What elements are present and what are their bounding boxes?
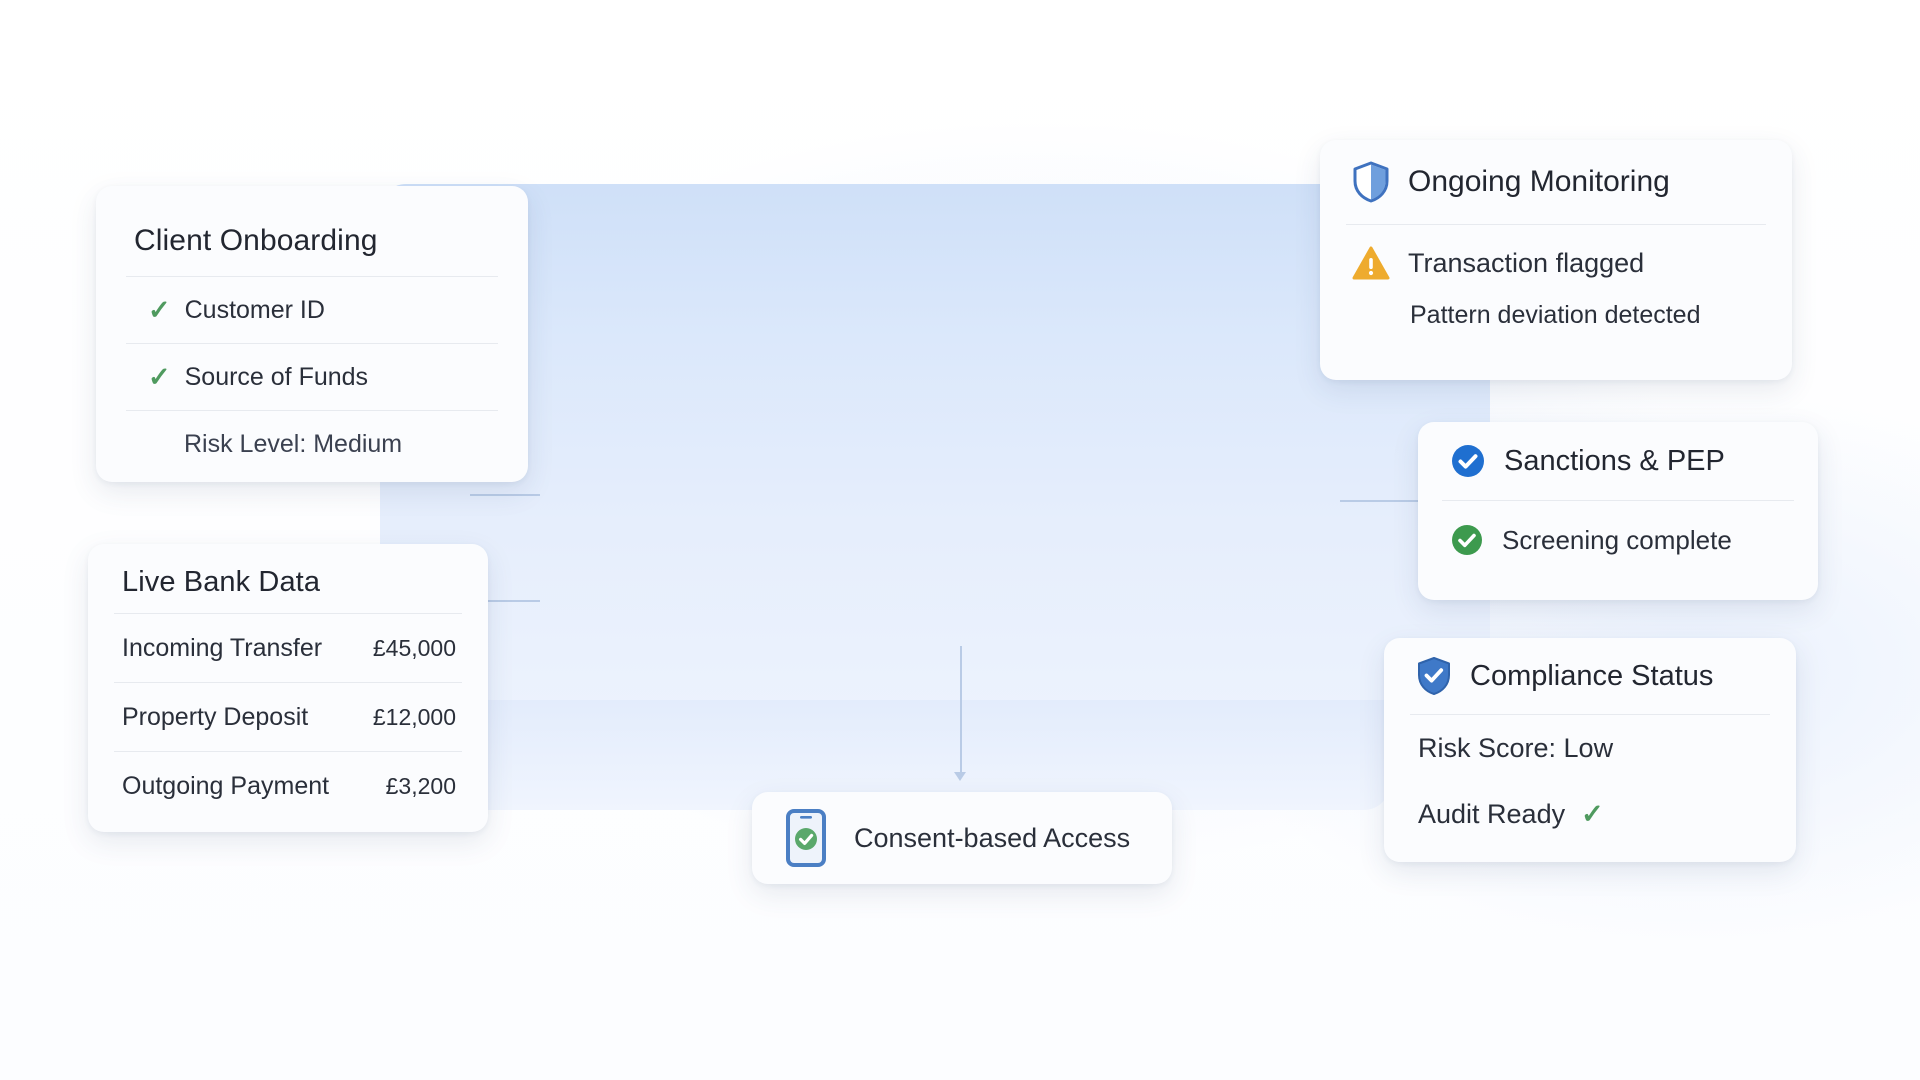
shield-icon <box>1352 161 1390 203</box>
bank-row-label: Outgoing Payment <box>122 772 329 801</box>
card-client-onboarding: Client Onboarding ✓ Customer ID ✓ Source… <box>96 186 528 482</box>
compliance-header: Compliance Status <box>1410 638 1770 714</box>
onboarding-title: Client Onboarding <box>134 224 498 258</box>
bank-row: Incoming Transfer £45,000 <box>114 614 462 682</box>
onboarding-risk-level-row: Risk Level: Medium <box>126 411 498 477</box>
card-sanctions-pep: Sanctions & PEP Screening complete <box>1418 422 1818 600</box>
bank-row-amount: £45,000 <box>373 635 456 662</box>
card-live-bank-data: Live Bank Data Incoming Transfer £45,000… <box>88 544 488 832</box>
mobile-consent-icon <box>786 809 826 867</box>
bank-row-label: Incoming Transfer <box>122 634 322 663</box>
check-icon: ✓ <box>148 297 171 324</box>
monitoring-header: Ongoing Monitoring <box>1346 140 1766 224</box>
bank-row-amount: £3,200 <box>386 773 456 800</box>
bank-title: Live Bank Data <box>122 566 462 599</box>
onboarding-item-source-of-funds: ✓ Source of Funds <box>126 344 498 410</box>
infographic-canvas: Client Onboarding ✓ Customer ID ✓ Source… <box>0 0 1920 1080</box>
bank-row-amount: £12,000 <box>373 704 456 731</box>
warning-triangle-icon <box>1352 245 1390 281</box>
sanctions-status-row: Screening complete <box>1442 501 1794 579</box>
monitoring-alert-text: Transaction flagged <box>1408 248 1644 279</box>
connector-arrow-down-icon <box>954 772 966 781</box>
compliance-title: Compliance Status <box>1470 660 1713 693</box>
monitoring-title: Ongoing Monitoring <box>1408 165 1670 199</box>
consent-label: Consent-based Access <box>854 823 1130 854</box>
compliance-audit-ready-row: Audit Ready ✓ <box>1410 781 1770 847</box>
check-icon: ✓ <box>148 364 171 391</box>
shield-check-icon <box>1416 656 1452 696</box>
onboarding-item-label: Customer ID <box>185 296 325 325</box>
monitoring-alert-row: Transaction flagged <box>1346 225 1766 301</box>
onboarding-item-customer-id: ✓ Customer ID <box>126 277 498 343</box>
bank-row: Outgoing Payment £3,200 <box>114 752 462 820</box>
risk-level-value: Risk Level: Medium <box>184 430 402 459</box>
compliance-audit-label: Audit Ready <box>1418 799 1565 830</box>
card-compliance-status: Compliance Status Risk Score: Low Audit … <box>1384 638 1796 862</box>
check-icon: ✓ <box>1581 801 1604 828</box>
sanctions-title: Sanctions & PEP <box>1504 445 1725 478</box>
sanctions-status-text: Screening complete <box>1502 525 1732 556</box>
monitoring-note: Pattern deviation detected <box>1346 301 1766 330</box>
onboarding-item-label: Source of Funds <box>185 363 368 392</box>
bank-row: Property Deposit £12,000 <box>114 683 462 751</box>
pill-consent-based-access: Consent-based Access <box>752 792 1172 884</box>
check-circle-blue-icon <box>1450 443 1486 479</box>
sanctions-header: Sanctions & PEP <box>1442 422 1794 500</box>
card-ongoing-monitoring: Ongoing Monitoring Transaction flagged P… <box>1320 140 1792 380</box>
bank-row-label: Property Deposit <box>122 703 308 732</box>
check-circle-green-icon <box>1450 523 1484 557</box>
compliance-risk-score-row: Risk Score: Low <box>1410 715 1770 781</box>
